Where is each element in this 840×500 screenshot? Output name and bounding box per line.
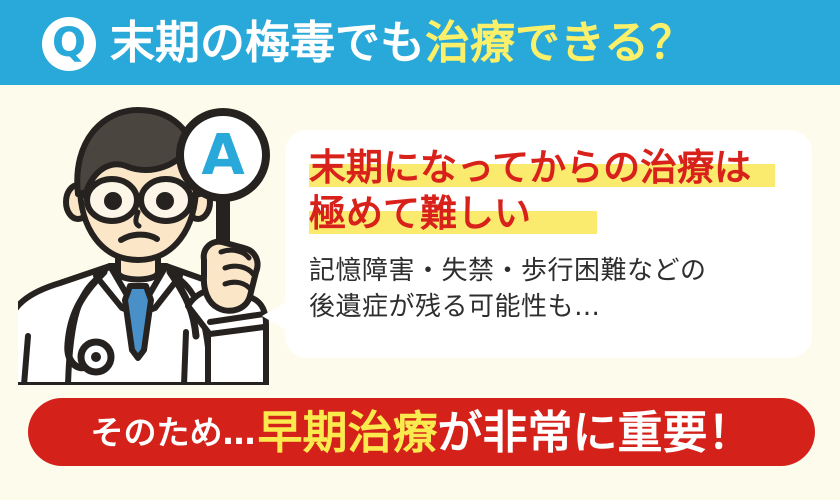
banner-prefix-text: そのため… bbox=[90, 416, 255, 449]
headline-line-2: 極めて難しい bbox=[309, 192, 812, 235]
question-header-bar: Q 末期の梅毒でも 治療できる？ bbox=[0, 0, 840, 85]
paddle-letter-a: A bbox=[201, 123, 245, 188]
header-question-white: 末期の梅毒でも bbox=[110, 20, 425, 65]
speech-bubble-tail bbox=[262, 302, 286, 330]
question-mark-badge-icon: Q bbox=[42, 17, 96, 71]
headline-line-1-text: 末期になってからの治療は bbox=[309, 146, 751, 189]
answer-speech-bubble: 末期になってからの治療は 極めて難しい 記憶障害・失禁・歩行困難などの 後遺症が… bbox=[285, 130, 812, 358]
q-badge-letter: Q bbox=[52, 23, 86, 63]
bubble-body-text: 記憶障害・失禁・歩行困難などの 後遺症が残る可能性も… bbox=[309, 253, 812, 326]
banner-suffix-text: が非常に重要！ bbox=[438, 410, 753, 455]
conclusion-banner: そのため… 早期治療 が非常に重要！ bbox=[28, 398, 815, 466]
doctor-figure-icon: A bbox=[18, 100, 303, 385]
header-question-yellow: 治療できる？ bbox=[425, 20, 694, 65]
infographic-canvas: Q 末期の梅毒でも 治療できる？ bbox=[0, 0, 840, 500]
banner-emphasis-text: 早期治療 bbox=[257, 410, 437, 455]
bubble-headline: 末期になってからの治療は 極めて難しい bbox=[309, 146, 812, 236]
headline-line-1: 末期になってからの治療は bbox=[309, 146, 812, 189]
headline-line-2-text: 極めて難しい bbox=[309, 192, 531, 235]
body-line-1: 記憶障害・失禁・歩行困難などの bbox=[309, 253, 812, 289]
body-line-2: 後遺症が残る可能性も… bbox=[309, 289, 812, 325]
doctor-illustration: A bbox=[18, 100, 303, 385]
